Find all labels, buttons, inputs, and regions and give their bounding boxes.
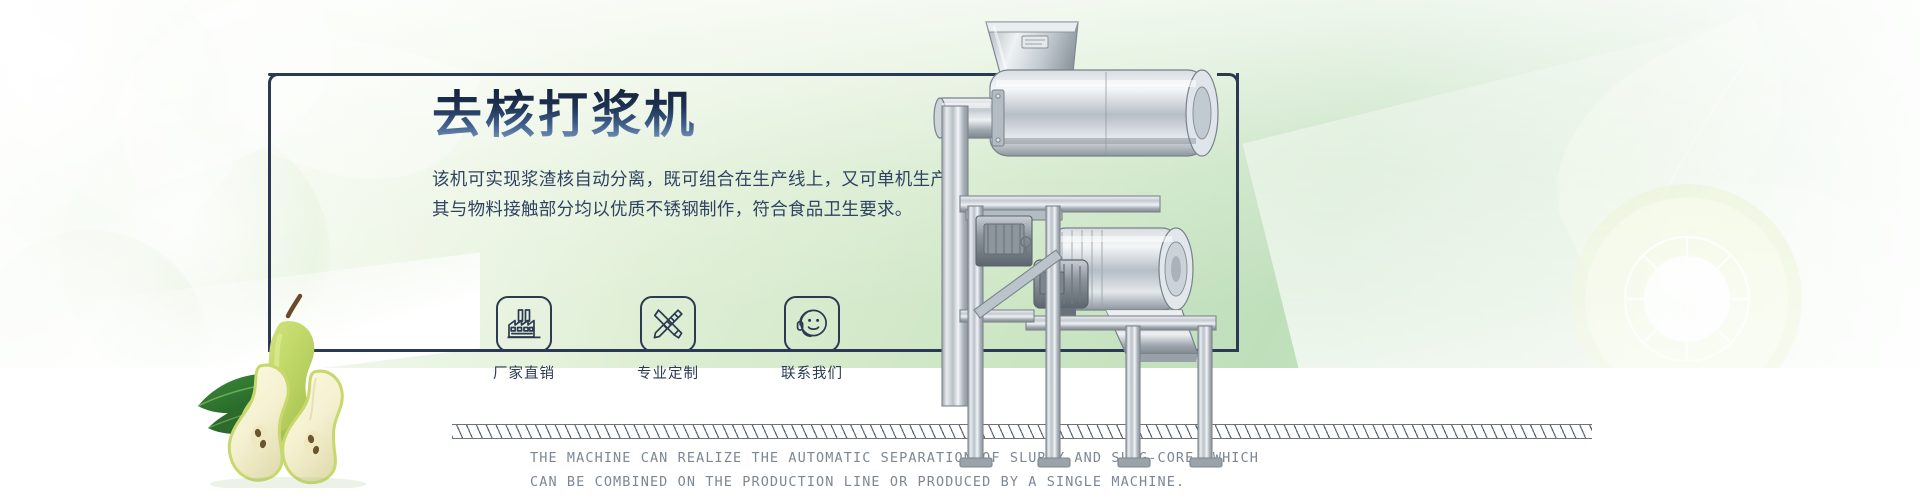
- headset-smiley-icon: [795, 307, 829, 341]
- pencil-ruler-icon: [651, 307, 685, 341]
- product-machine-image: [930, 10, 1280, 500]
- feature-label: 厂家直销: [476, 362, 572, 383]
- feature-list: 厂家直销: [476, 296, 860, 383]
- pear-fruit-image: [196, 288, 446, 488]
- machine-control-box: [976, 216, 1032, 266]
- factory-icon: [507, 308, 541, 340]
- feature-label: 联系我们: [764, 362, 860, 383]
- machine-main-barrel: [990, 70, 1218, 156]
- feature-icon-frame: [784, 296, 840, 352]
- description-text: 该机可实现浆渣核自动分离，既可组合在生产线上，又可单机生产， 其与物料接触部分均…: [432, 165, 952, 225]
- frame-top-edge: [268, 73, 1018, 76]
- product-banner: 去核打浆机 该机可实现浆渣核自动分离，既可组合在生产线上，又可单机生产， 其与物…: [0, 0, 1920, 500]
- headline-block: 去核打浆机 该机可实现浆渣核自动分离，既可组合在生产线上，又可单机生产， 其与物…: [432, 88, 952, 225]
- feature-item-factory-direct[interactable]: 厂家直销: [476, 296, 572, 383]
- feature-item-contact-us[interactable]: 联系我们: [764, 296, 860, 383]
- feature-icon-frame: [496, 296, 552, 352]
- description-line: 其与物料接触部分均以优质不锈钢制作，符合食品卫生要求。: [432, 195, 952, 225]
- feature-icon-frame: [640, 296, 696, 352]
- description-line: 该机可实现浆渣核自动分离，既可组合在生产线上，又可单机生产，: [432, 165, 952, 195]
- page-title: 去核打浆机: [432, 88, 952, 143]
- feature-item-custom-made[interactable]: 专业定制: [620, 296, 716, 383]
- feature-label: 专业定制: [620, 362, 716, 383]
- frame-corner: [268, 73, 290, 95]
